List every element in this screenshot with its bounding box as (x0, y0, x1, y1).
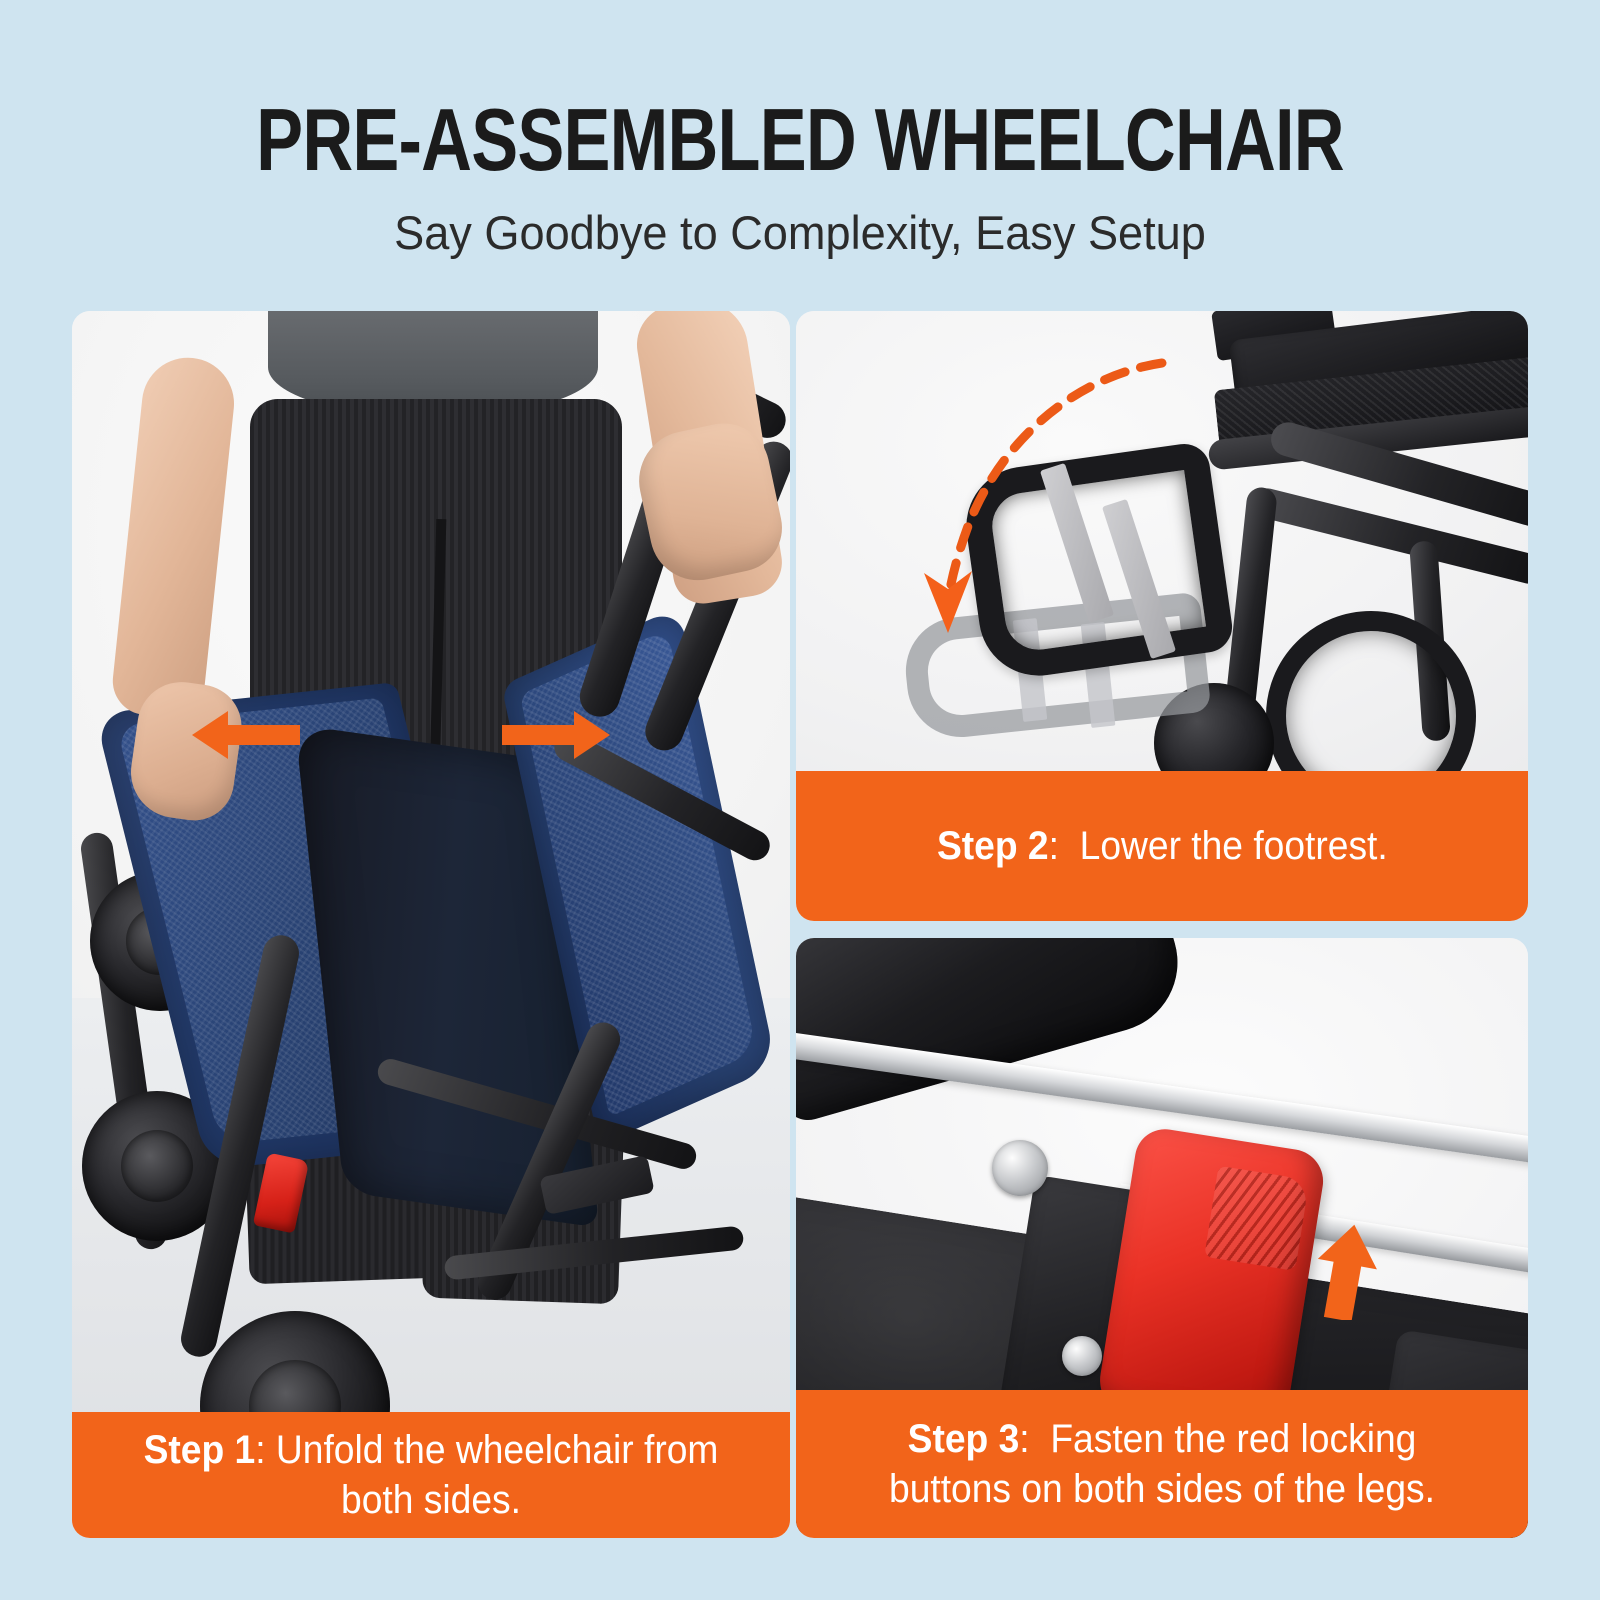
step-1-caption-text: Step 1: Unfold the wheelchair from both … (121, 1425, 740, 1525)
step-1-panel: Step 1: Unfold the wheelchair from both … (72, 311, 790, 1538)
page-title: PRE-ASSEMBLED WHEELCHAIR (160, 96, 1440, 184)
step-2-caption-text: Step 2: Lower the footrest. (937, 821, 1388, 871)
step-2-caption-bar: Step 2: Lower the footrest. (796, 771, 1528, 921)
step-3-label: Step 3 (908, 1417, 1020, 1461)
step-1-label: Step 1 (144, 1428, 256, 1472)
screw-head (992, 1140, 1048, 1196)
step-1-body: Unfold the wheelchair from both sides. (276, 1428, 718, 1522)
step-2-body: Lower the footrest. (1079, 824, 1387, 868)
step-2-label: Step 2 (937, 824, 1049, 868)
step-1-photo (72, 311, 790, 1538)
screw-head (1062, 1336, 1102, 1376)
step-1-caption-bar: Step 1: Unfold the wheelchair from both … (72, 1412, 790, 1538)
curved-dashed-arrow-icon (874, 341, 1174, 641)
page-header: PRE-ASSEMBLED WHEELCHAIR Say Goodbye to … (0, 0, 1600, 300)
page-subtitle: Say Goodbye to Complexity, Easy Setup (32, 204, 1568, 262)
arrow-left-icon (192, 709, 300, 761)
step-2-panel: Step 2: Lower the footrest. (796, 311, 1528, 921)
step-3-caption-bar: Step 3: Fasten the red locking buttons o… (796, 1390, 1528, 1538)
step-3-panel: Step 3: Fasten the red locking buttons o… (796, 938, 1528, 1538)
step-3-caption-text: Step 3: Fasten the red locking buttons o… (846, 1414, 1478, 1514)
arrow-up-icon (1314, 1224, 1378, 1320)
step-3-separator: : (1019, 1417, 1029, 1461)
step-2-separator: : (1048, 824, 1058, 868)
arrow-right-icon (502, 709, 610, 761)
step-1-separator: : (255, 1428, 265, 1472)
